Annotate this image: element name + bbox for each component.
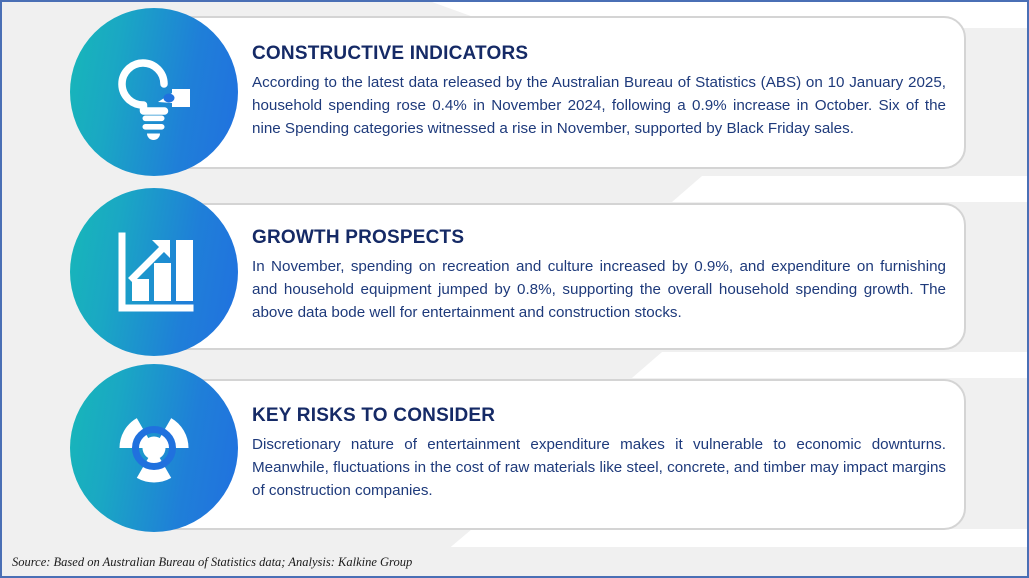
- card-title: GROWTH PROSPECTS: [252, 228, 946, 249]
- card-title: KEY RISKS TO CONSIDER: [252, 406, 946, 427]
- card-constructive-indicators: CONSTRUCTIVE INDICATORS According to the…: [154, 16, 966, 169]
- infographic-root: CONSTRUCTIVE INDICATORS According to the…: [0, 0, 1029, 578]
- card-text: According to the latest data released by…: [252, 71, 946, 140]
- cards-container: CONSTRUCTIVE INDICATORS According to the…: [2, 2, 1027, 576]
- icon-badge-growth-prospects: [70, 188, 238, 356]
- lightbulb-idea-icon: [102, 40, 206, 144]
- card-text: In November, spending on recreation and …: [252, 255, 946, 324]
- icon-badge-key-risks: [70, 364, 238, 532]
- card-growth-prospects: GROWTH PROSPECTS In November, spending o…: [154, 203, 966, 350]
- card-body: GROWTH PROSPECTS In November, spending o…: [252, 205, 946, 348]
- card-body: CONSTRUCTIVE INDICATORS According to the…: [252, 18, 946, 167]
- bar-chart-growth-icon: [102, 220, 206, 324]
- card-title: CONSTRUCTIVE INDICATORS: [252, 44, 946, 65]
- card-key-risks: KEY RISKS TO CONSIDER Discretionary natu…: [154, 379, 966, 530]
- icon-badge-constructive-indicators: [70, 8, 238, 176]
- radiation-hazard-icon: [102, 396, 206, 500]
- card-body: KEY RISKS TO CONSIDER Discretionary natu…: [252, 381, 946, 528]
- card-text: Discretionary nature of entertainment ex…: [252, 433, 946, 502]
- source-note: Source: Based on Australian Bureau of St…: [12, 555, 412, 570]
